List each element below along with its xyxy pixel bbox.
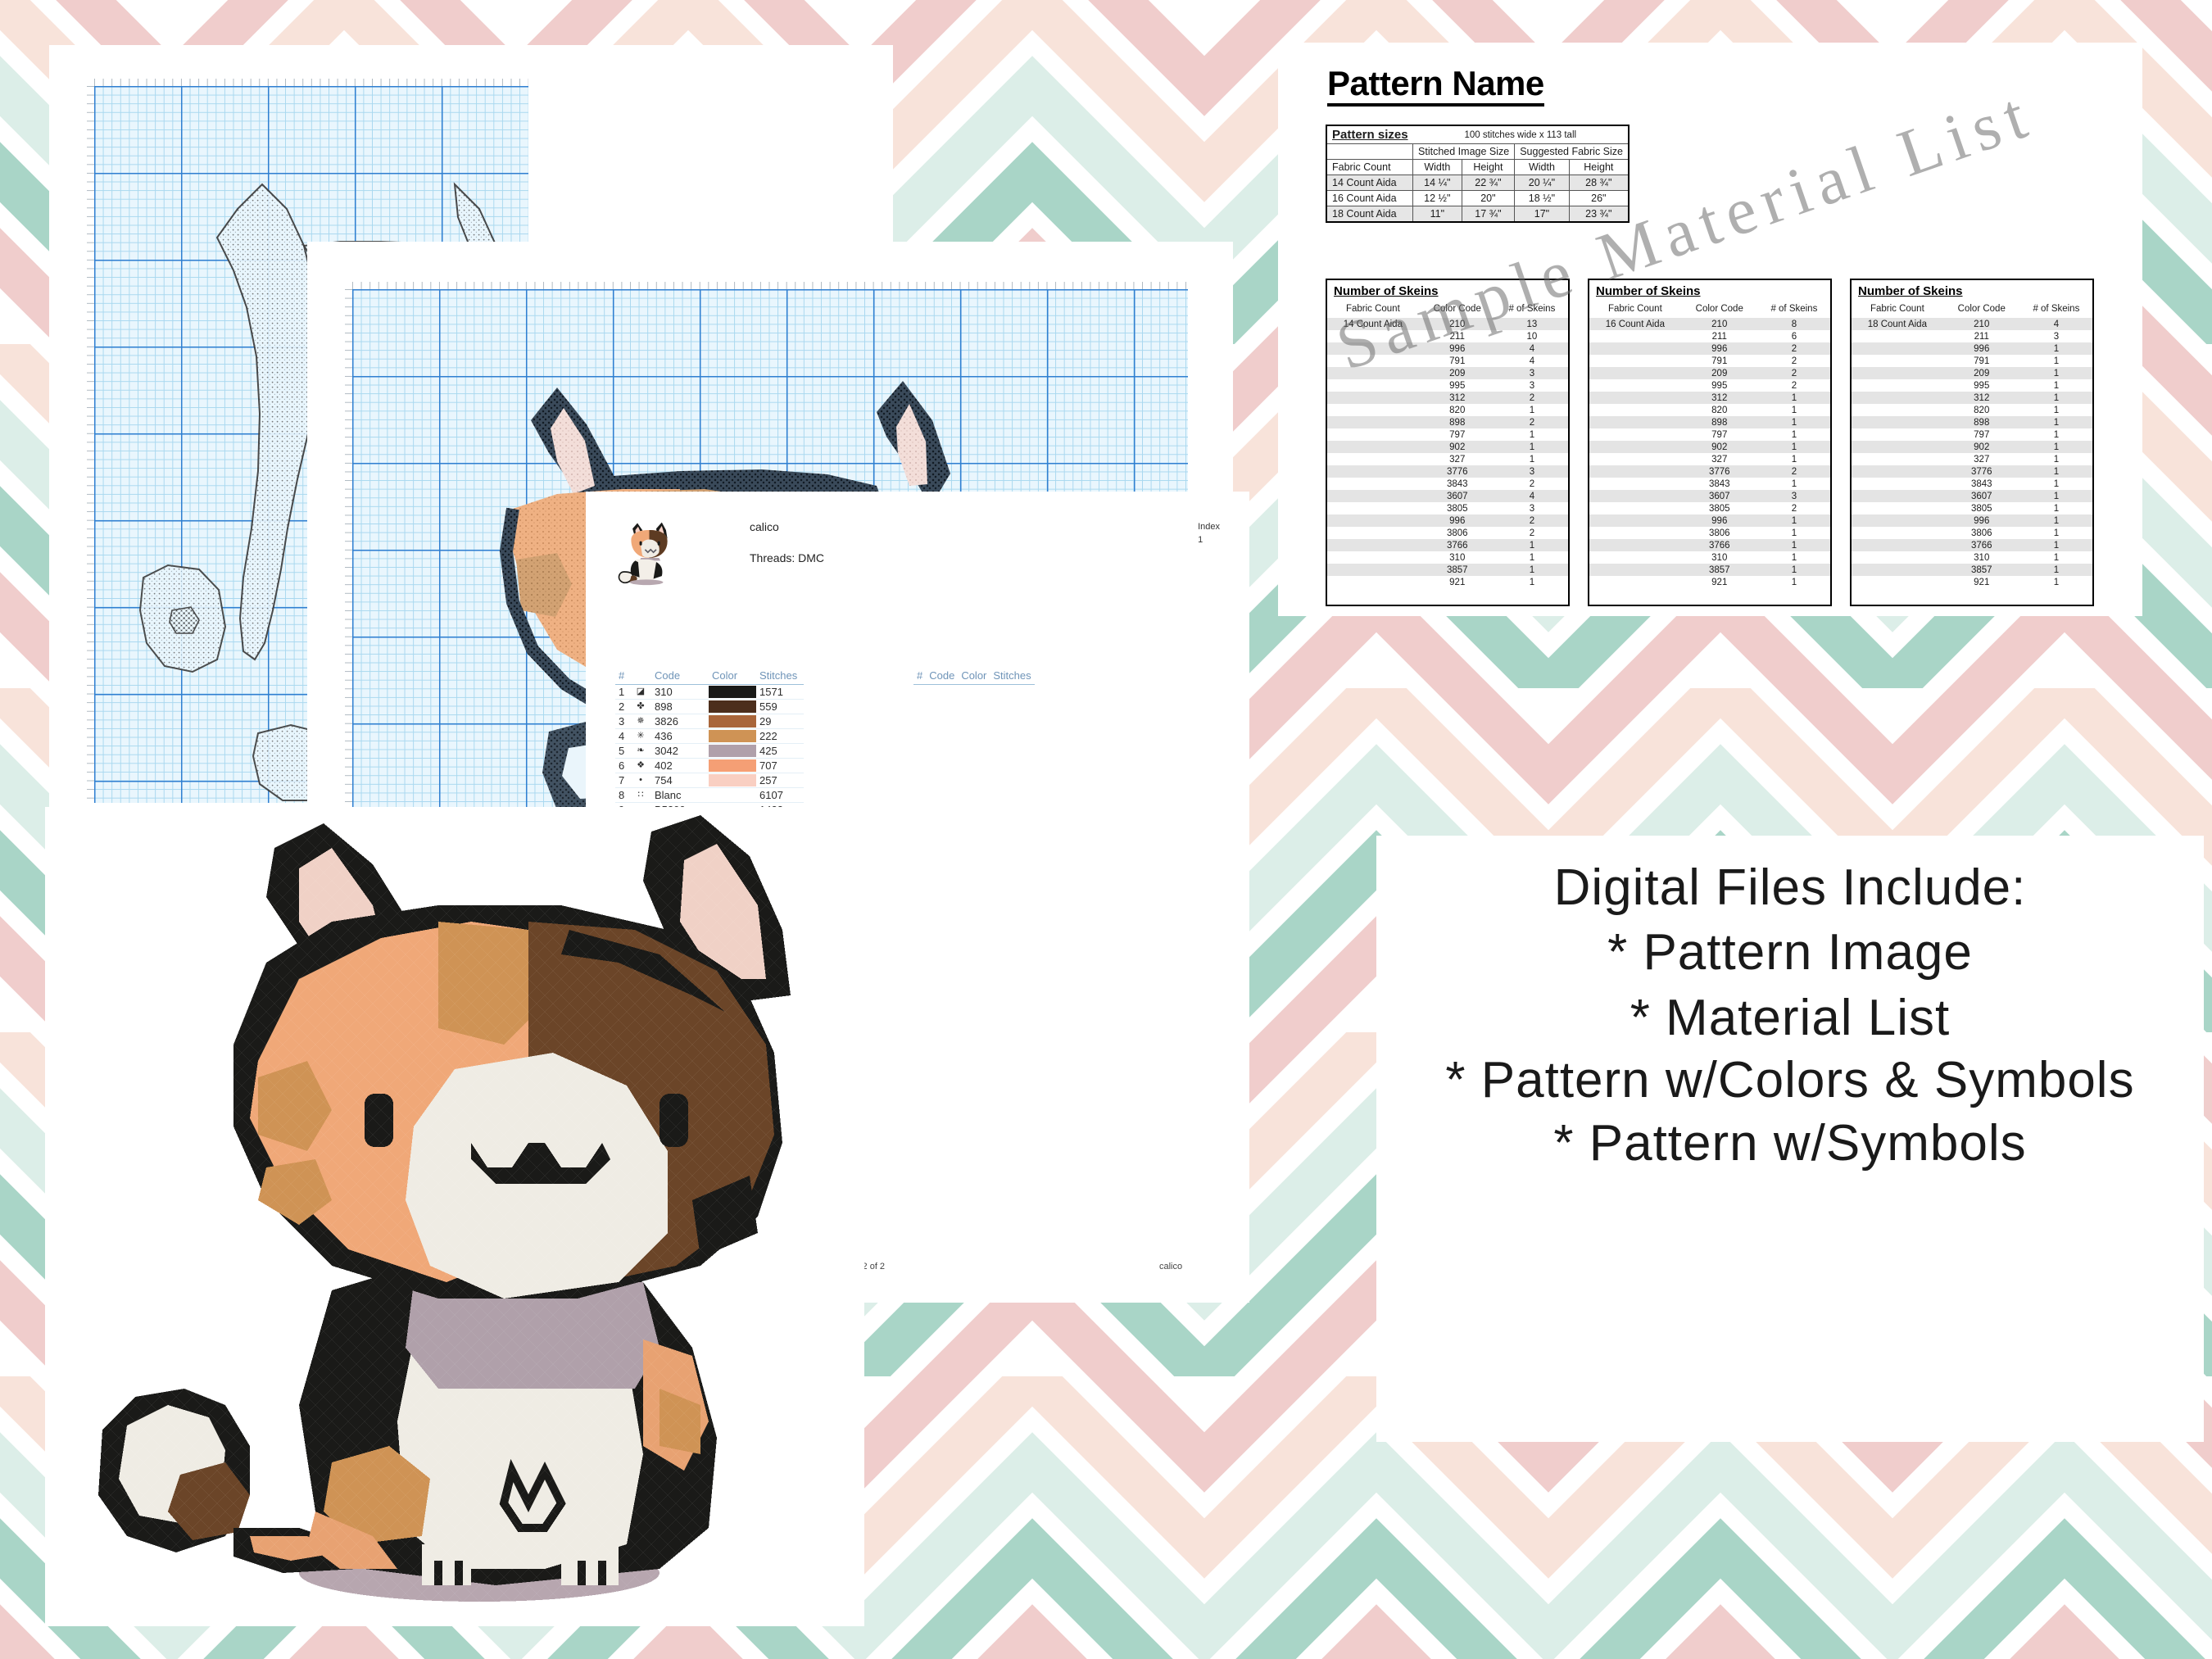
skein-count: 1	[2020, 428, 2092, 441]
skein-color-code: 996	[1943, 342, 2020, 355]
files-line-4: * Pattern w/Symbols	[1553, 1111, 2026, 1176]
skein-fabric-count	[1852, 527, 1943, 539]
legend-header-row-right: #CodeColorStitches	[913, 668, 1035, 685]
legend-footer-name: calico	[1159, 1262, 1182, 1271]
skein-color-code: 3776	[1681, 465, 1758, 478]
skein-row: 7914	[1327, 355, 1568, 367]
skein-count: 1	[1496, 428, 1568, 441]
skein-color-code: 902	[1943, 441, 2020, 453]
skein-count: 1	[1758, 478, 1830, 490]
legend-symbol-icon: ❧	[630, 744, 651, 759]
skein-col-fabric-count: Fabric Count	[1589, 301, 1681, 318]
skein-count: 3	[1496, 465, 1568, 478]
skein-table-16ct: Number of Skeins Fabric CountColor Code#…	[1588, 279, 1832, 606]
skein-color-code: 211	[1419, 330, 1496, 342]
legend-code: 3042	[651, 744, 709, 759]
legend-color-swatch	[709, 788, 756, 803]
legend-code: Blanc	[651, 788, 709, 803]
skein-row: 18 Count Aida2104	[1852, 318, 2092, 330]
legend-index: 5	[615, 744, 630, 759]
skein-count: 1	[2020, 367, 2092, 379]
skein-row: 9952	[1589, 379, 1830, 392]
skein-row: 8981	[1852, 416, 2092, 428]
skein-count: 2	[1758, 342, 1830, 355]
skein-row: 9021	[1852, 441, 2092, 453]
skein-row: 9211	[1852, 576, 2092, 588]
skein-fabric-count	[1852, 330, 1943, 342]
pattern-size-cell: 14 ¼"	[1413, 175, 1462, 191]
skein-fabric-count	[1327, 367, 1419, 379]
threads-label: Threads: DMC	[750, 551, 824, 564]
skein-row: 3122	[1327, 392, 1568, 404]
skein-color-code: 3843	[1681, 478, 1758, 490]
skein-fabric-count	[1852, 502, 1943, 514]
skein-fabric-count	[1852, 441, 1943, 453]
skein-color-code: 312	[1419, 392, 1496, 404]
legend-row: 8∷Blanc6107	[615, 788, 804, 803]
skein-row: 7971	[1589, 428, 1830, 441]
skein-row: 38061	[1852, 527, 2092, 539]
legend-row: 2✤898559	[615, 700, 804, 714]
skein-fabric-count	[1852, 428, 1943, 441]
skein-fabric-count	[1589, 367, 1681, 379]
skein-fabric-count	[1327, 428, 1419, 441]
skein-count: 1	[2020, 355, 2092, 367]
skein-header-row: Fabric CountColor Code# of Skeins	[1852, 301, 2092, 318]
skein-color-code: 3843	[1419, 478, 1496, 490]
files-line-2: * Material List	[1630, 986, 1951, 1050]
skein-color-code: 902	[1419, 441, 1496, 453]
skein-fabric-count	[1852, 465, 1943, 478]
pattern-preview-page	[45, 807, 864, 1626]
legend-code: 402	[651, 759, 709, 773]
skein-row: 2113	[1852, 330, 2092, 342]
skein-fabric-count	[1589, 392, 1681, 404]
pattern-size-cell: 26"	[1569, 191, 1629, 206]
skein-color-code: 3806	[1681, 527, 1758, 539]
skein-color-code: 898	[1419, 416, 1496, 428]
skein-count: 1	[2020, 441, 2092, 453]
skein-fabric-count	[1852, 392, 1943, 404]
skein-count: 2	[1496, 478, 1568, 490]
skein-color-code: 791	[1681, 355, 1758, 367]
skein-color-code: 3857	[1419, 564, 1496, 576]
skein-fabric-count	[1852, 404, 1943, 416]
skein-color-code: 3805	[1419, 502, 1496, 514]
group-header-fabric: Suggested Fabric Size	[1515, 144, 1629, 160]
skein-count: 2	[1758, 355, 1830, 367]
skein-color-code: 312	[1681, 392, 1758, 404]
skein-count: 2	[1758, 502, 1830, 514]
skein-fabric-count	[1589, 478, 1681, 490]
legend-col-stitches: Stitches	[756, 668, 804, 685]
legend-header-row: #CodeColorStitches	[615, 668, 804, 685]
pattern-size-cell: 22 ¾"	[1462, 175, 1515, 191]
legend-code: 310	[651, 685, 709, 700]
skein-row: 3121	[1852, 392, 2092, 404]
skein-row: 3101	[1327, 551, 1568, 564]
pattern-size-row: 14 Count Aida14 ¼"22 ¾"20 ¼"28 ¾"	[1326, 175, 1629, 191]
skein-fabric-count	[1852, 490, 1943, 502]
skein-color-code: 210	[1681, 318, 1758, 330]
skein-count: 1	[2020, 342, 2092, 355]
skein-count: 1	[2020, 527, 2092, 539]
skein-row: 9962	[1589, 342, 1830, 355]
skein-fabric-count	[1327, 379, 1419, 392]
skein-count: 3	[1758, 490, 1830, 502]
skein-row: 7912	[1589, 355, 1830, 367]
calico-cat-cross-stitch	[45, 807, 864, 1626]
pattern-size-cell: 17 ¾"	[1462, 206, 1515, 223]
sub-header-stitched-height: Height	[1462, 160, 1515, 175]
pattern-size-cell: 14 Count Aida	[1326, 175, 1413, 191]
skein-fabric-count	[1589, 527, 1681, 539]
legend-row: 1◪3101571	[615, 685, 804, 700]
legend-symbol-icon: •	[630, 773, 651, 788]
skein-heading: Number of Skeins	[1852, 280, 2092, 301]
skein-row: 2091	[1852, 367, 2092, 379]
legend-symbol-icon: ✳	[630, 729, 651, 744]
skein-fabric-count	[1852, 478, 1943, 490]
legend-col-right--: #	[913, 668, 926, 685]
skein-heading: Number of Skeins	[1327, 280, 1568, 301]
skein-row: 9953	[1327, 379, 1568, 392]
skein-row: 2116	[1589, 330, 1830, 342]
skein-count: 1	[1758, 392, 1830, 404]
skein-row: 37661	[1589, 539, 1830, 551]
grid-ruler-left	[345, 289, 352, 822]
skein-color-code: 996	[1943, 514, 2020, 527]
skein-fabric-count	[1589, 330, 1681, 342]
skein-color-code: 3805	[1681, 502, 1758, 514]
skein-count: 1	[1496, 453, 1568, 465]
dimension-note: 100 stitches wide x 113 tall	[1413, 125, 1629, 144]
skein-row: 9021	[1589, 441, 1830, 453]
skein-row: 37762	[1589, 465, 1830, 478]
legend-stitches: 559	[756, 700, 804, 714]
skein-fabric-count	[1589, 453, 1681, 465]
skein-count: 4	[1496, 490, 1568, 502]
pattern-size-cell: 20 ¼"	[1515, 175, 1569, 191]
skein-count: 1	[2020, 404, 2092, 416]
skein-col-fabric-count: Fabric Count	[1852, 301, 1943, 318]
skein-count: 1	[2020, 490, 2092, 502]
files-line-1: * Pattern Image	[1607, 920, 1973, 985]
skein-color-code: 211	[1943, 330, 2020, 342]
legend-index: 7	[615, 773, 630, 788]
skein-fabric-count: 16 Count Aida	[1589, 318, 1681, 330]
skein-fabric-count	[1589, 576, 1681, 588]
skein-row: 3101	[1589, 551, 1830, 564]
skein-row: 38571	[1327, 564, 1568, 576]
skein-row: 37763	[1327, 465, 1568, 478]
skein-row: 3271	[1589, 453, 1830, 465]
legend-row: 5❧3042425	[615, 744, 804, 759]
legend-index: 3	[615, 714, 630, 729]
legend-col-right-code: Code	[926, 668, 958, 685]
design-name: calico	[750, 520, 824, 533]
skein-color-code: 3857	[1681, 564, 1758, 576]
skein-color-code: 3766	[1681, 539, 1758, 551]
skein-row: 37661	[1852, 539, 2092, 551]
legend-col-code: Code	[651, 668, 709, 685]
legend-index: 8	[615, 788, 630, 803]
legend-color-swatch	[709, 700, 756, 714]
skein-row: 38431	[1589, 478, 1830, 490]
skein-fabric-count	[1589, 465, 1681, 478]
skein-row: 7911	[1852, 355, 2092, 367]
skein-color-code: 209	[1681, 367, 1758, 379]
skein-color-code: 327	[1681, 453, 1758, 465]
skein-color-code: 3607	[1419, 490, 1496, 502]
skein-color-code: 3806	[1419, 527, 1496, 539]
skein-color-code: 3776	[1419, 465, 1496, 478]
skein-row: 21110	[1327, 330, 1568, 342]
skein-row: 8201	[1327, 404, 1568, 416]
pattern-size-row: 18 Count Aida11"17 ¾"17"23 ¾"	[1326, 206, 1629, 223]
legend-stitches: 707	[756, 759, 804, 773]
skein-fabric-count	[1589, 379, 1681, 392]
skein-color-code: 797	[1943, 428, 2020, 441]
legend-color-swatch	[709, 759, 756, 773]
skein-count: 2	[1758, 379, 1830, 392]
legend-col-symbol	[630, 668, 651, 685]
skein-fabric-count	[1852, 453, 1943, 465]
skein-fabric-count	[1852, 416, 1943, 428]
skein-fabric-count	[1852, 367, 1943, 379]
skein-count: 1	[1496, 441, 1568, 453]
skein-count: 1	[2020, 379, 2092, 392]
legend-col--: #	[615, 668, 630, 685]
skein-fabric-count	[1327, 514, 1419, 527]
pattern-size-cell: 28 ¾"	[1569, 175, 1629, 191]
skein-count: 8	[1758, 318, 1830, 330]
skein-fabric-count	[1327, 342, 1419, 355]
skein-row: 38571	[1852, 564, 2092, 576]
skein-count: 3	[2020, 330, 2092, 342]
skein-fabric-count	[1589, 441, 1681, 453]
skein-color-code: 820	[1943, 404, 2020, 416]
legend-code: 436	[651, 729, 709, 744]
skein-fabric-count	[1327, 576, 1419, 588]
skein-count: 1	[1758, 527, 1830, 539]
skein-count: 4	[1496, 342, 1568, 355]
pattern-size-cell: 17"	[1515, 206, 1569, 223]
skein-fabric-count	[1589, 404, 1681, 416]
legend-table-left: #CodeColorStitches 1◪31015712✤8985593✵38…	[615, 668, 804, 818]
skein-count: 1	[1758, 576, 1830, 588]
skein-count: 1	[1758, 453, 1830, 465]
skein-row: 36074	[1327, 490, 1568, 502]
pattern-size-cell: 20"	[1462, 191, 1515, 206]
skein-count: 1	[2020, 392, 2092, 404]
skein-fabric-count	[1327, 465, 1419, 478]
skein-row: 38053	[1327, 502, 1568, 514]
skein-count: 1	[2020, 514, 2092, 527]
legend-code: 754	[651, 773, 709, 788]
skein-fabric-count: 14 Count Aida	[1327, 318, 1419, 330]
skein-col-color-code: Color Code	[1419, 301, 1496, 318]
skein-row: 7971	[1327, 428, 1568, 441]
skein-fabric-count	[1589, 355, 1681, 367]
skein-count: 3	[1496, 367, 1568, 379]
skein-row: 38052	[1589, 502, 1830, 514]
skein-color-code: 996	[1419, 342, 1496, 355]
pattern-sizes-heading: Pattern sizes	[1326, 125, 1413, 144]
skein-col--of-skeins: # of Skeins	[2020, 301, 2092, 318]
skein-color-code: 3766	[1419, 539, 1496, 551]
legend-row: 4✳436222	[615, 729, 804, 744]
legend-color-swatch	[709, 773, 756, 788]
skein-count: 3	[1496, 502, 1568, 514]
skein-color-code: 921	[1943, 576, 2020, 588]
pattern-sizes-table: Pattern sizes 100 stitches wide x 113 ta…	[1326, 125, 1630, 223]
legend-col-color: Color	[709, 668, 756, 685]
digital-files-panel: Digital Files Include: * Pattern Image *…	[1376, 836, 2204, 1442]
skein-fabric-count	[1852, 576, 1943, 588]
skein-color-code: 209	[1943, 367, 2020, 379]
legend-stitches: 1571	[756, 685, 804, 700]
skein-color-code: 921	[1419, 576, 1496, 588]
skein-row: 9961	[1852, 514, 2092, 527]
skein-row: 38431	[1852, 478, 2092, 490]
skein-count: 1	[1496, 404, 1568, 416]
skein-row: 8201	[1589, 404, 1830, 416]
pattern-size-row: 16 Count Aida12 ½"20"18 ½"26"	[1326, 191, 1629, 206]
skein-fabric-count	[1589, 490, 1681, 502]
legend-header: calico Threads: DMC	[750, 520, 824, 564]
skein-color-code: 797	[1419, 428, 1496, 441]
skein-row: 9021	[1327, 441, 1568, 453]
legend-col-right-color: Color	[958, 668, 990, 685]
page-title: Pattern Name	[1327, 66, 1544, 107]
skein-count: 1	[1496, 576, 1568, 588]
skein-row: 8981	[1589, 416, 1830, 428]
legend-color-swatch	[709, 729, 756, 744]
skein-row: 9961	[1852, 342, 2092, 355]
skein-color-code: 310	[1681, 551, 1758, 564]
skein-color-code: 210	[1419, 318, 1496, 330]
index-label: Index	[1198, 521, 1220, 534]
skein-row: 9211	[1589, 576, 1830, 588]
skein-fabric-count	[1327, 404, 1419, 416]
skein-fabric-count	[1327, 453, 1419, 465]
skein-row: 3271	[1852, 453, 2092, 465]
skein-fabric-count	[1589, 514, 1681, 527]
skein-col-color-code: Color Code	[1681, 301, 1758, 318]
skein-count: 1	[1496, 539, 1568, 551]
skein-count: 1	[2020, 551, 2092, 564]
legend-stitches: 6107	[756, 788, 804, 803]
legend-row: 6❖402707	[615, 759, 804, 773]
skein-count: 2	[1496, 392, 1568, 404]
skein-color-code: 797	[1681, 428, 1758, 441]
skein-row: 37761	[1852, 465, 2092, 478]
skein-color-code: 791	[1943, 355, 2020, 367]
skein-color-code: 995	[1943, 379, 2020, 392]
skein-count: 2	[1758, 367, 1830, 379]
pattern-thumbnail	[614, 516, 684, 586]
skein-count: 1	[2020, 478, 2092, 490]
skein-fabric-count	[1327, 392, 1419, 404]
skein-row: 38061	[1589, 527, 1830, 539]
skein-color-code: 898	[1943, 416, 2020, 428]
skein-row: 38051	[1852, 502, 2092, 514]
legend-color-swatch	[709, 685, 756, 700]
group-header-stitched: Stitched Image Size	[1413, 144, 1515, 160]
legend-code: 3826	[651, 714, 709, 729]
skein-color-code: 820	[1419, 404, 1496, 416]
legend-row: 3✵382629	[615, 714, 804, 729]
skein-count: 2	[1496, 416, 1568, 428]
skein-table-18ct: Number of Skeins Fabric CountColor Code#…	[1850, 279, 2094, 606]
skein-color-code: 902	[1681, 441, 1758, 453]
skein-row: 9211	[1327, 576, 1568, 588]
skein-fabric-count	[1589, 539, 1681, 551]
pattern-size-cell: 12 ½"	[1413, 191, 1462, 206]
legend-col-right-stitches: Stitches	[990, 668, 1034, 685]
skein-color-code: 996	[1681, 514, 1758, 527]
skein-count: 1	[1758, 428, 1830, 441]
skein-fabric-count	[1327, 478, 1419, 490]
pattern-size-cell: 16 Count Aida	[1326, 191, 1413, 206]
skein-count: 1	[2020, 564, 2092, 576]
skein-fabric-count	[1327, 330, 1419, 342]
skein-count: 10	[1496, 330, 1568, 342]
pattern-size-cell: 18 ½"	[1515, 191, 1569, 206]
skein-row: 2092	[1589, 367, 1830, 379]
skein-fabric-count	[1327, 551, 1419, 564]
skein-col-color-code: Color Code	[1943, 301, 2020, 318]
legend-color-swatch	[709, 744, 756, 759]
skein-count: 1	[1496, 551, 1568, 564]
skein-color-code: 210	[1943, 318, 2020, 330]
pattern-size-cell: 18 Count Aida	[1326, 206, 1413, 223]
skein-row: 38062	[1327, 527, 1568, 539]
skein-color-code: 312	[1943, 392, 2020, 404]
skein-color-code: 995	[1681, 379, 1758, 392]
skein-fabric-count	[1327, 564, 1419, 576]
skein-row: 2093	[1327, 367, 1568, 379]
skein-row: 36073	[1589, 490, 1830, 502]
skein-color-code: 310	[1943, 551, 2020, 564]
pattern-size-cell: 23 ¾"	[1569, 206, 1629, 223]
skein-count: 6	[1758, 330, 1830, 342]
legend-stitches: 257	[756, 773, 804, 788]
skein-row: 9962	[1327, 514, 1568, 527]
legend-index: 1	[615, 685, 630, 700]
skein-count: 13	[1496, 318, 1568, 330]
material-list-page: Pattern Name Pattern sizes 100 stitches …	[1278, 43, 2142, 616]
legend-code: 898	[651, 700, 709, 714]
legend-stitches: 222	[756, 729, 804, 744]
skein-fabric-count	[1852, 564, 1943, 576]
skein-color-code: 996	[1681, 342, 1758, 355]
skein-count: 3	[1496, 379, 1568, 392]
skein-count: 2	[1758, 465, 1830, 478]
skein-color-code: 209	[1419, 367, 1496, 379]
skein-heading: Number of Skeins	[1589, 280, 1830, 301]
grid-ruler-left	[87, 86, 94, 803]
skein-count: 2	[1496, 514, 1568, 527]
skein-color-code: 310	[1419, 551, 1496, 564]
skein-color-code: 3806	[1943, 527, 2020, 539]
skein-header-row: Fabric CountColor Code# of Skeins	[1589, 301, 1830, 318]
skein-fabric-count	[1852, 539, 1943, 551]
skein-row: 9961	[1589, 514, 1830, 527]
legend-table-right: #CodeColorStitches	[913, 668, 1035, 685]
skein-color-code: 3857	[1943, 564, 2020, 576]
